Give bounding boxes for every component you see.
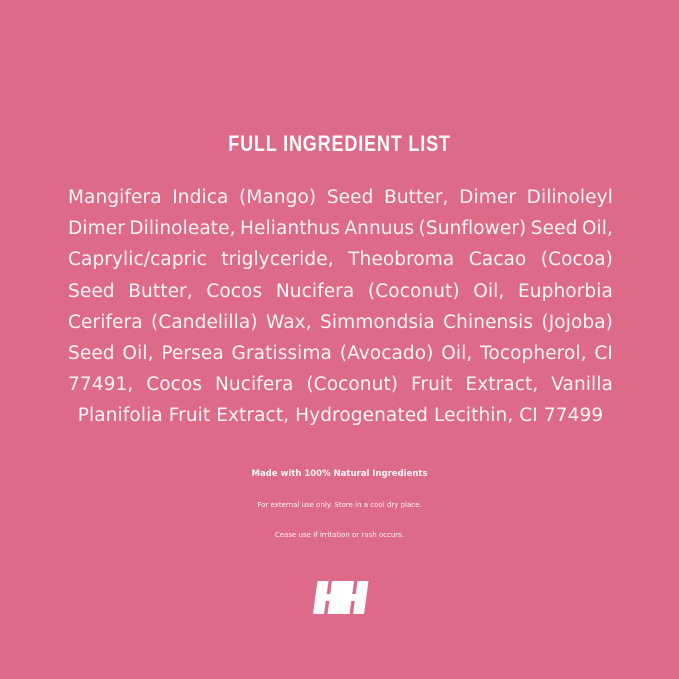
ingredient-line: SeedButter,CocosNucifera(Coconut)Oil,Eup… [68, 276, 613, 307]
ingredient-word: Butter, [384, 182, 449, 213]
ingredient-word: Dimer [68, 213, 125, 244]
ingredient-word: Caprylic/capric [68, 244, 207, 275]
hh-monogram-icon [310, 581, 370, 615]
ingredient-word: Persea [161, 338, 223, 369]
ingredient-line: Caprylic/caprictriglyceride,TheobromaCac… [68, 244, 613, 275]
ingredient-label-card: TINTED LIP BUTTER FULL INGREDIENT LIST M… [0, 0, 679, 679]
ingredient-word: Planifolia Fruit Extract, Hydrogenated L… [78, 400, 603, 431]
ingredient-word: (Jojoba) [541, 307, 613, 338]
ingredient-word: Seed [531, 213, 578, 244]
ingredient-word: Helianthus [240, 213, 340, 244]
ingredient-word: Chinensis [443, 307, 533, 338]
ingredient-word: Butter, [128, 276, 193, 307]
usage-instruction-line-1: For external use only. Store in a cool d… [0, 490, 679, 520]
ingredient-word: Tocopherol, [480, 338, 586, 369]
ingredient-word: Euphorbia [518, 276, 613, 307]
claims-block: Made with 100% Natural Ingredients For e… [0, 459, 679, 550]
ingredient-word: Cerifera [68, 307, 143, 338]
ingredient-list: MangiferaIndica(Mango)SeedButter,DimerDi… [68, 182, 613, 432]
ingredient-line: 77491,CocosNucifera(Coconut)FruitExtract… [68, 369, 613, 400]
ingredient-word: Nucifera [215, 369, 294, 400]
ingredient-word: Nucifera [276, 276, 355, 307]
ingredient-word: (Coconut) [306, 369, 398, 400]
ingredient-word: Seed [68, 276, 115, 307]
ingredient-word: (Candelilla) [151, 307, 258, 338]
ingredient-word: Dilinoleate, [129, 213, 235, 244]
ingredient-line: DimerDilinoleate,HelianthusAnnuus(Sunflo… [68, 213, 613, 244]
natural-ingredients-claim: Made with 100% Natural Ingredients [0, 459, 679, 490]
ingredient-word: Extract, [465, 369, 538, 400]
ingredient-word: (Mango) [239, 182, 316, 213]
ingredient-word: Vanilla [551, 369, 613, 400]
ingredient-word: Oil, [441, 338, 472, 369]
ingredient-word: (Coconut) [368, 276, 460, 307]
brand-logo [0, 581, 679, 615]
ingredient-word: triglyceride, [221, 244, 333, 275]
ingredient-word: Seed [68, 338, 115, 369]
ingredient-word: Dimer [459, 182, 516, 213]
ingredient-word: (Avocado) [340, 338, 434, 369]
ingredient-word: Seed [327, 182, 374, 213]
ingredient-word: (Sunflower) [419, 213, 527, 244]
ingredient-line: MangiferaIndica(Mango)SeedButter,DimerDi… [68, 182, 613, 213]
ingredient-word: 77491, [68, 369, 133, 400]
ingredient-word: Mangifera [68, 182, 162, 213]
ingredient-word: Indica [172, 182, 228, 213]
ingredient-word: Gratissima [232, 338, 332, 369]
ingredient-word: Annuus [344, 213, 414, 244]
ingredient-line: Cerifera(Candelilla)Wax,SimmondsiaChinen… [68, 307, 613, 338]
ingredient-line: SeedOil,PerseaGratissima(Avocado)Oil,Toc… [68, 338, 613, 369]
ingredient-word: Cacao [469, 244, 527, 275]
ingredient-word: Oil, [582, 213, 613, 244]
usage-instruction-line-2: Cease use if irritation or rash occurs. [0, 520, 679, 550]
page-title: FULL INGREDIENT LIST [61, 118, 618, 170]
ingredient-word: (Cocoa) [541, 244, 613, 275]
ingredient-word: Oil, [122, 338, 153, 369]
ingredient-word: Cocos [146, 369, 202, 400]
ingredient-word: Wax, [266, 307, 312, 338]
ingredient-word: Dilinoleyl [527, 182, 613, 213]
ingredient-word: Cocos [206, 276, 262, 307]
ingredient-word: Oil, [473, 276, 504, 307]
ingredient-word: Fruit [411, 369, 453, 400]
ingredient-word: Simmondsia [320, 307, 435, 338]
ingredient-line: Planifolia Fruit Extract, Hydrogenated L… [68, 400, 613, 431]
ingredient-word: CI [594, 338, 613, 369]
ingredient-word: Theobroma [348, 244, 454, 275]
